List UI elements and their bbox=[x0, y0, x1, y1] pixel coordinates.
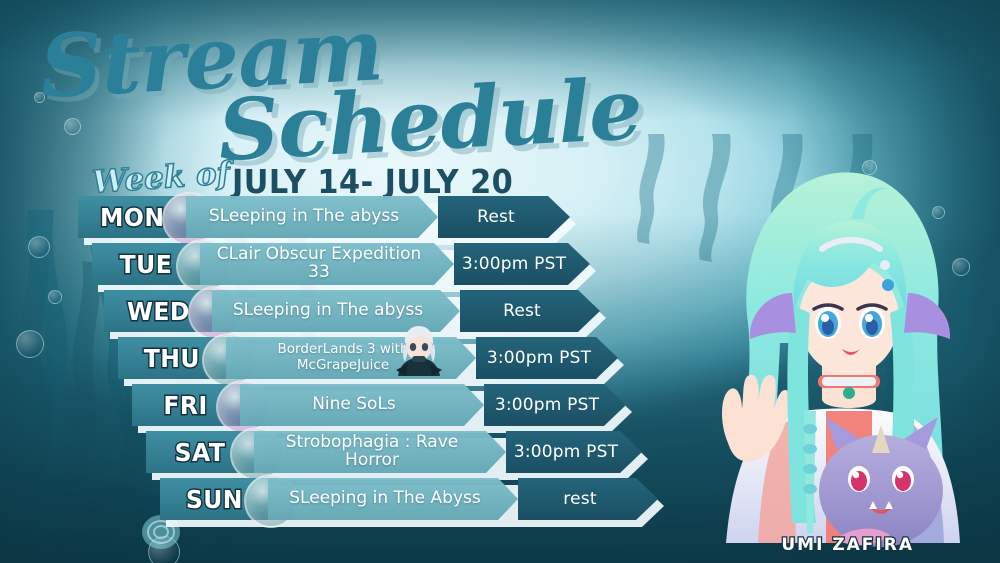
day-text: TUE bbox=[120, 250, 173, 279]
stream-title-cell: Nine SoLs bbox=[240, 384, 484, 426]
schedule-row: SATStrobophagia : Rave Horror3:00pm PST bbox=[146, 431, 642, 473]
stream-time-text: rest bbox=[557, 489, 618, 509]
schedule-row: WEDSLeeping in The abyssRest bbox=[104, 290, 600, 332]
stream-time-text: Rest bbox=[497, 301, 563, 321]
stream-title-text: CLair Obscur Expedition 33 bbox=[200, 246, 454, 282]
stream-title-cell: SLeeping in The abyss bbox=[186, 196, 438, 238]
schedule-row: TUECLair Obscur Expedition 333:00pm PST bbox=[92, 243, 590, 285]
day-text: FRI bbox=[164, 391, 208, 420]
schedule-row: FRINine SoLs3:00pm PST bbox=[132, 384, 626, 426]
stream-time-text: 3:00pm PST bbox=[481, 348, 613, 368]
stream-time-text: 3:00pm PST bbox=[489, 395, 621, 415]
stream-title-text: Nine SoLs bbox=[304, 396, 420, 414]
artist-signature: UMI ZAFIRA bbox=[781, 535, 914, 555]
stream-schedule-graphic: Stream Schedule Week of JULY 14- JULY 20… bbox=[0, 0, 1000, 563]
stream-time-cell: 3:00pm PST bbox=[454, 243, 590, 285]
stream-time-cell: Rest bbox=[460, 290, 600, 332]
vtuber-character-art bbox=[676, 143, 1000, 563]
stream-title-cell: CLair Obscur Expedition 33 bbox=[200, 243, 454, 285]
stream-time-cell: rest bbox=[518, 478, 658, 520]
stream-time-cell: Rest bbox=[438, 196, 570, 238]
stream-time-text: 3:00pm PST bbox=[456, 254, 588, 274]
stream-time-cell: 3:00pm PST bbox=[476, 337, 618, 379]
schedule-row: MONSLeeping in The abyssRest bbox=[78, 196, 570, 238]
ambient-bubble bbox=[64, 118, 81, 135]
collab-character-sticker bbox=[390, 324, 448, 382]
stream-title-text: SLeeping in The Abyss bbox=[281, 490, 504, 508]
stream-title-text: SLeeping in The abyss bbox=[225, 302, 447, 320]
day-text: SUN bbox=[185, 485, 242, 514]
stream-time-cell: 3:00pm PST bbox=[506, 431, 642, 473]
stream-title-cell: SLeeping in The Abyss bbox=[268, 478, 518, 520]
stream-title-text: Strobophagia : Rave Horror bbox=[254, 434, 506, 470]
stream-time-cell: 3:00pm PST bbox=[484, 384, 626, 426]
schedule-row: THUBorderLands 3 with McGrapeJuice3:00pm… bbox=[118, 337, 618, 379]
day-text: WED bbox=[127, 297, 190, 326]
day-text: MON bbox=[100, 203, 164, 232]
stream-title-text: SLeeping in The abyss bbox=[201, 208, 423, 226]
schedule-row: SUNSLeeping in The Abyssrest bbox=[160, 478, 658, 520]
stream-title-cell: Strobophagia : Rave Horror bbox=[254, 431, 506, 473]
stream-time-text: Rest bbox=[471, 207, 537, 227]
stream-time-text: 3:00pm PST bbox=[508, 442, 640, 462]
day-text: SAT bbox=[175, 438, 226, 467]
day-text: THU bbox=[144, 344, 200, 373]
